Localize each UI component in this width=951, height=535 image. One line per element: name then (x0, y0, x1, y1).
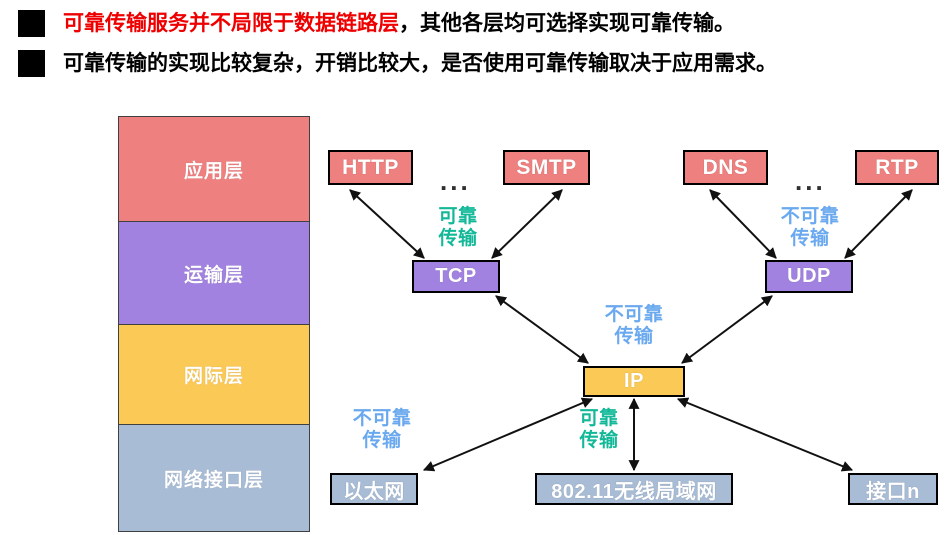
node-ip[interactable]: IP (583, 366, 685, 397)
annotation-tcp-reliable: 可靠 传输 (425, 206, 491, 250)
node-dns[interactable]: DNS (683, 150, 768, 185)
node-wlan-802-11[interactable]: 802.11无线局域网 (535, 473, 733, 505)
layer-internet[interactable]: 网际层 (119, 325, 309, 425)
header-bullet-1-emphasis: 可靠传输服务并不局限于数据链路层 (63, 12, 399, 35)
annotation-tcp-reliable-line2: 传输 (425, 228, 491, 250)
header-bullet-1: 可靠传输服务并不局限于数据链路层，其他各层均可选择实现可靠传输。 (18, 10, 735, 37)
layer-application[interactable]: 应用层 (119, 117, 309, 222)
node-http[interactable]: HTTP (328, 150, 413, 185)
slide-canvas: 可靠传输服务并不局限于数据链路层，其他各层均可选择实现可靠传输。 可靠传输的实现… (0, 0, 951, 535)
ellipsis-left: ... (440, 168, 471, 194)
node-ip-label: IP (624, 370, 644, 393)
node-rtp-label: RTP (875, 156, 919, 180)
header-bullet-1-text: 可靠传输服务并不局限于数据链路层，其他各层均可选择实现可靠传输。 (63, 13, 735, 34)
node-tcp-label: TCP (435, 265, 477, 288)
header-bullet-2-rest: 可靠传输的实现比较复杂，开销比较大，是否使用可靠传输取决于应用需求。 (63, 52, 777, 75)
tcp-ip-layer-stack: 应用层 运输层 网际层 网络接口层 (118, 116, 310, 532)
node-http-label: HTTP (342, 156, 399, 180)
header-bullet-2-text: 可靠传输的实现比较复杂，开销比较大，是否使用可靠传输取决于应用需求。 (63, 53, 777, 74)
node-interface-n-label: 接口n (866, 475, 920, 504)
annotation-ethernet-unreliable-line2: 传输 (340, 430, 424, 452)
ellipsis-right: ... (795, 168, 826, 194)
node-ethernet-label: 以太网 (343, 475, 405, 504)
node-smtp-label: SMTP (516, 156, 576, 180)
node-interface-n[interactable]: 接口n (848, 473, 938, 505)
layer-network-interface-label: 网络接口层 (164, 465, 264, 492)
annotation-ip-unreliable: 不可靠 传输 (592, 304, 676, 348)
node-udp[interactable]: UDP (765, 260, 853, 293)
layer-transport[interactable]: 运输层 (119, 222, 309, 325)
layer-network-interface[interactable]: 网络接口层 (119, 425, 309, 531)
node-rtp[interactable]: RTP (855, 150, 939, 185)
annotation-wlan-reliable-line1: 可靠 (566, 408, 632, 430)
annotation-udp-unreliable: 不可靠 传输 (772, 206, 848, 250)
layer-transport-label: 运输层 (184, 260, 244, 287)
annotation-udp-unreliable-line2: 传输 (772, 228, 848, 250)
annotation-wlan-reliable: 可靠 传输 (566, 408, 632, 452)
layer-application-label: 应用层 (184, 156, 244, 183)
square-bullet-icon (18, 10, 45, 37)
annotation-ip-unreliable-line1: 不可靠 (592, 304, 676, 326)
header-bullet-2: 可靠传输的实现比较复杂，开销比较大，是否使用可靠传输取决于应用需求。 (18, 50, 777, 77)
annotation-ethernet-unreliable-line1: 不可靠 (340, 408, 424, 430)
annotation-udp-unreliable-line1: 不可靠 (772, 206, 848, 228)
node-ethernet[interactable]: 以太网 (330, 473, 418, 505)
node-tcp[interactable]: TCP (412, 260, 500, 293)
node-dns-label: DNS (703, 156, 749, 180)
square-bullet-icon (18, 50, 45, 77)
layer-internet-label: 网际层 (184, 361, 244, 388)
header-bullet-1-rest: ，其他各层均可选择实现可靠传输。 (399, 12, 735, 35)
annotation-ethernet-unreliable: 不可靠 传输 (340, 408, 424, 452)
node-udp-label: UDP (787, 265, 831, 288)
node-wlan-802-11-label: 802.11无线局域网 (551, 475, 717, 504)
node-smtp[interactable]: SMTP (503, 150, 590, 185)
annotation-ip-unreliable-line2: 传输 (592, 326, 676, 348)
annotation-tcp-reliable-line1: 可靠 (425, 206, 491, 228)
annotation-wlan-reliable-line2: 传输 (566, 430, 632, 452)
